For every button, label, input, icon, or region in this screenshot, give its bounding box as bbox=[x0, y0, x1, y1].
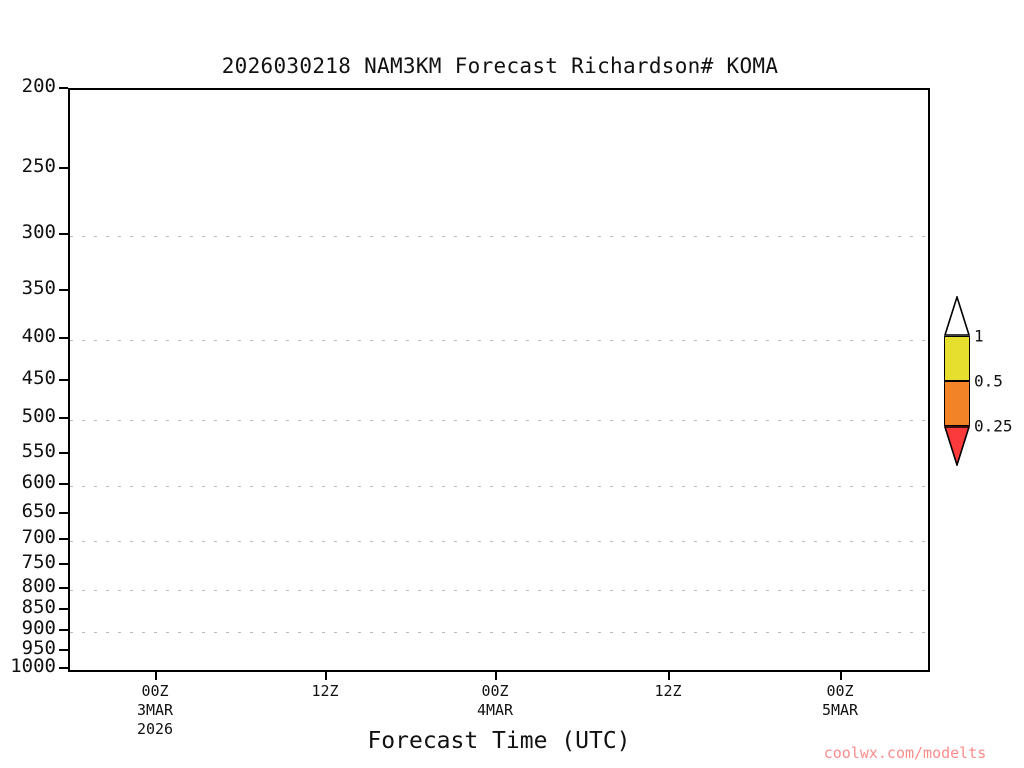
plot-area bbox=[68, 88, 930, 672]
y-tick-label-600: 600 bbox=[22, 471, 56, 493]
y-tick-500 bbox=[59, 417, 68, 419]
x-tick-label-4: 00Z 5MAR bbox=[822, 682, 858, 720]
colorbar-extend-top-outline bbox=[944, 296, 970, 336]
y-tick-label-750: 750 bbox=[22, 551, 56, 573]
y-tick-label-300: 300 bbox=[22, 221, 56, 243]
y-tick-label-500: 500 bbox=[22, 405, 56, 427]
colorbar-label-0.25: 0.25 bbox=[974, 417, 1013, 436]
y-tick-700 bbox=[59, 538, 68, 540]
y-tick-950 bbox=[59, 649, 68, 651]
y-tick-350 bbox=[59, 289, 68, 291]
colorbar-label-0.5: 0.5 bbox=[974, 372, 1003, 391]
y-tick-label-350: 350 bbox=[22, 277, 56, 299]
gridline-600 bbox=[70, 486, 928, 487]
gridline-500 bbox=[70, 420, 928, 421]
gridline-800 bbox=[70, 590, 928, 591]
y-tick-600 bbox=[59, 483, 68, 485]
y-tick-850 bbox=[59, 608, 68, 610]
gridlines bbox=[70, 90, 928, 670]
x-tick-1 bbox=[325, 672, 327, 680]
y-tick-900 bbox=[59, 629, 68, 631]
y-tick-550 bbox=[59, 452, 68, 454]
chart-title: 2026030218 NAM3KM Forecast Richardson# K… bbox=[0, 54, 1000, 78]
x-tick-4 bbox=[840, 672, 842, 680]
gridline-1000 bbox=[70, 670, 928, 671]
gridline-700 bbox=[70, 541, 928, 542]
x-tick-2 bbox=[495, 672, 497, 680]
y-tick-label-200: 200 bbox=[22, 75, 56, 97]
x-axis-ticks bbox=[68, 672, 930, 682]
y-tick-label-1000: 1000 bbox=[10, 655, 56, 677]
y-tick-label-650: 650 bbox=[22, 500, 56, 522]
x-tick-label-3: 12Z bbox=[654, 682, 681, 701]
y-tick-450 bbox=[59, 379, 68, 381]
colorbar: 10.50.25 bbox=[944, 296, 1020, 476]
y-tick-1000 bbox=[59, 667, 68, 669]
y-tick-800 bbox=[59, 587, 68, 589]
y-tick-label-900: 900 bbox=[22, 617, 56, 639]
x-tick-label-1: 12Z bbox=[311, 682, 338, 701]
x-tick-label-2: 00Z 4MAR bbox=[477, 682, 513, 720]
y-tick-label-550: 550 bbox=[22, 440, 56, 462]
gridline-300 bbox=[70, 236, 928, 237]
gridline-900 bbox=[70, 632, 928, 633]
y-tick-label-800: 800 bbox=[22, 575, 56, 597]
colorbar-band-yellow bbox=[944, 336, 970, 381]
gridline-400 bbox=[70, 340, 928, 341]
y-tick-750 bbox=[59, 563, 68, 565]
y-axis-tick-labels: 2002503003504004505005506006507007508008… bbox=[0, 0, 60, 768]
y-tick-200 bbox=[59, 87, 68, 89]
y-tick-300 bbox=[59, 233, 68, 235]
y-axis-ticks bbox=[59, 0, 69, 768]
y-tick-label-450: 450 bbox=[22, 367, 56, 389]
y-tick-650 bbox=[59, 512, 68, 514]
y-tick-250 bbox=[59, 167, 68, 169]
watermark-link[interactable]: coolwx.com/modelts bbox=[790, 744, 1020, 762]
x-tick-0 bbox=[155, 672, 157, 680]
colorbar-extend-bottom-outline bbox=[944, 426, 970, 466]
y-tick-label-850: 850 bbox=[22, 596, 56, 618]
y-tick-label-400: 400 bbox=[22, 325, 56, 347]
chart-figure: 2026030218 NAM3KM Forecast Richardson# K… bbox=[0, 0, 1024, 768]
y-tick-label-700: 700 bbox=[22, 526, 56, 548]
colorbar-band-orange bbox=[944, 381, 970, 426]
y-tick-label-250: 250 bbox=[22, 155, 56, 177]
x-tick-3 bbox=[668, 672, 670, 680]
y-tick-400 bbox=[59, 337, 68, 339]
colorbar-label-1: 1 bbox=[974, 327, 984, 346]
